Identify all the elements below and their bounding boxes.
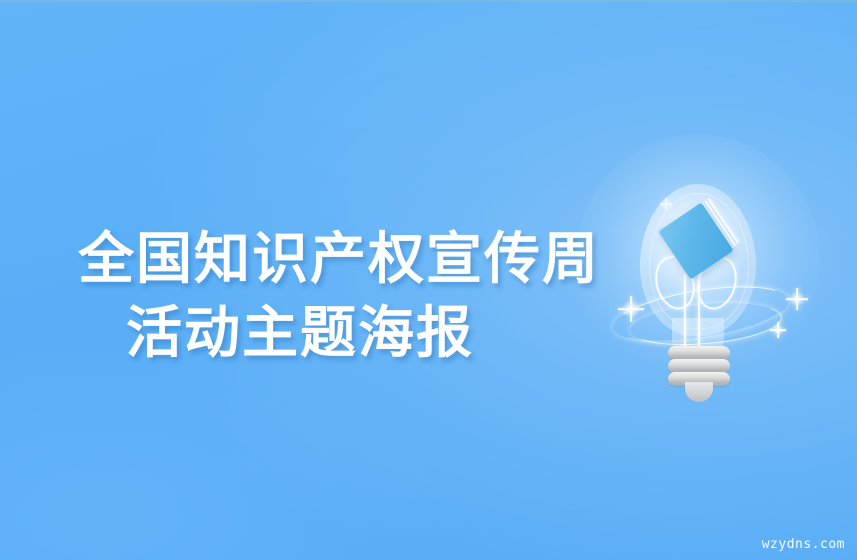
poster-canvas: 全国知识产权宣传周 活动主题海报 wzydns.com <box>0 0 857 560</box>
sparkle-icon <box>660 198 672 210</box>
sparkle-icon <box>770 322 786 338</box>
top-edge-strip <box>0 0 857 2</box>
sparkle-icon <box>618 296 644 322</box>
poster-title-line-2: 活动主题海报 <box>78 296 598 370</box>
sparkle-icon <box>786 288 808 310</box>
poster-title-line-1: 全国知识产权宣传周 <box>78 222 598 296</box>
bulb-base-tip <box>685 382 713 402</box>
watermark-text: wzydns.com <box>762 537 845 552</box>
bulb-base-ridge <box>668 346 730 360</box>
poster-title: 全国知识产权宣传周 活动主题海报 <box>78 222 598 370</box>
lightbulb-illustration <box>628 178 768 408</box>
bulb-screw-base <box>668 346 730 394</box>
bulb-base-ridge <box>668 359 730 373</box>
